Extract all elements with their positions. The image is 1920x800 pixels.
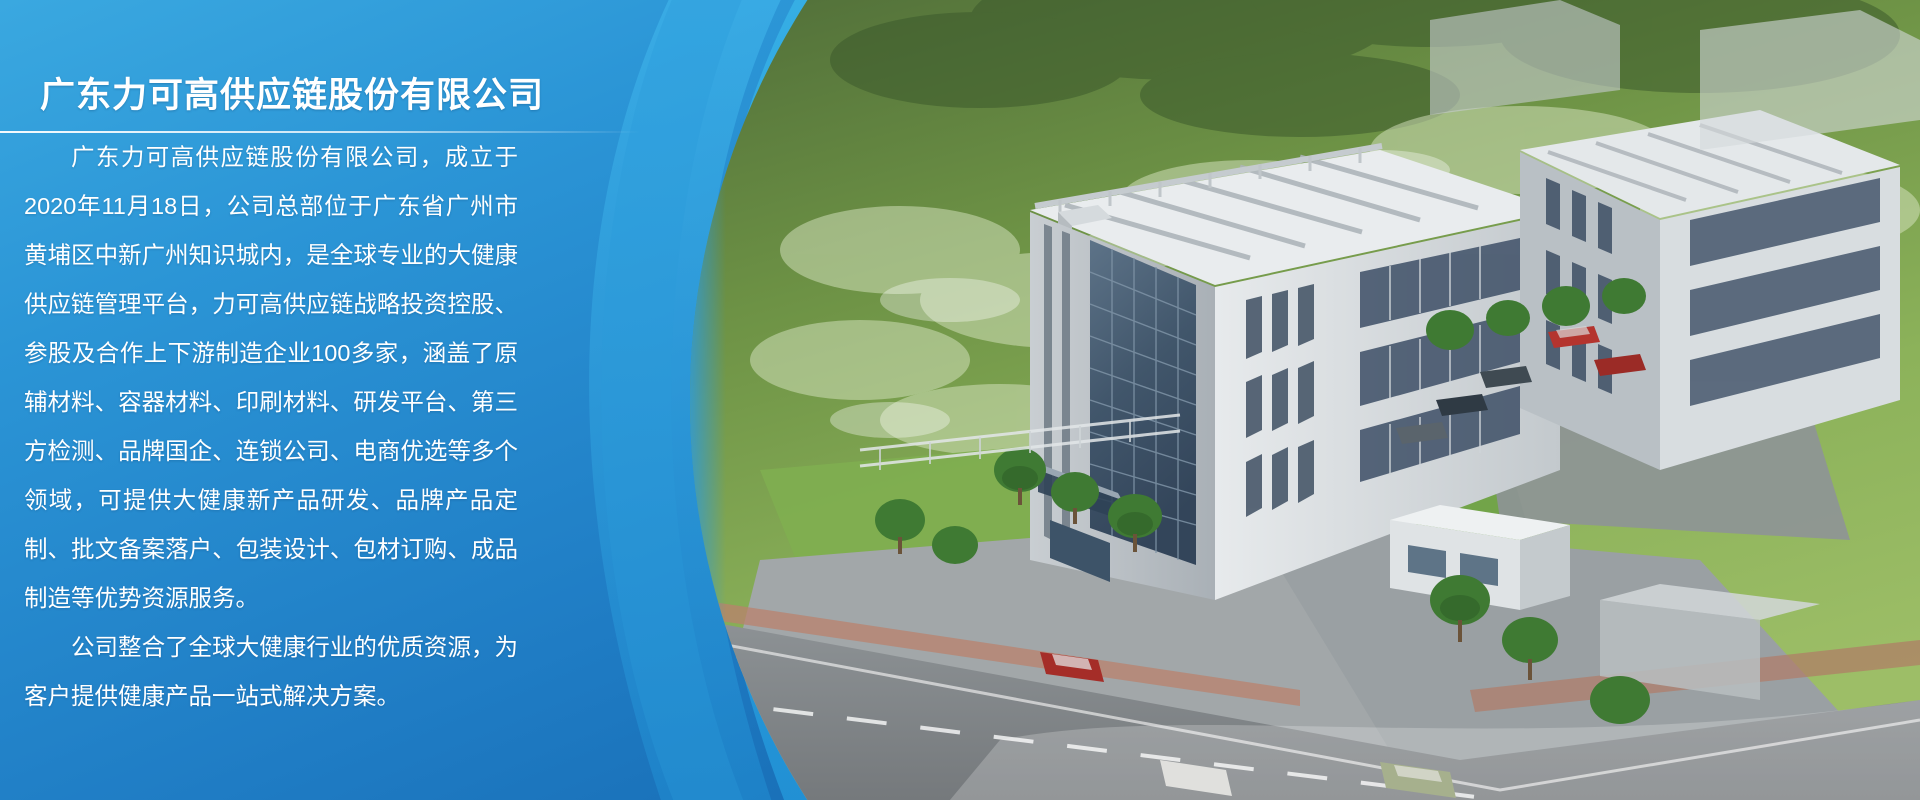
factory-campus-aerial-photo	[690, 0, 1920, 800]
paragraph-1: 广东力可高供应链股份有限公司，成立于2020年11月18日，公司总部位于广东省广…	[24, 133, 518, 623]
page-title: 广东力可高供应链股份有限公司	[40, 75, 544, 117]
paragraph-2: 公司整合了全球大健康行业的优质资源，为客户提供健康产品一站式解决方案。	[24, 623, 518, 721]
company-description: 广东力可高供应链股份有限公司，成立于2020年11月18日，公司总部位于广东省广…	[24, 133, 518, 721]
company-profile-banner: 广东力可高供应链股份有限公司 广东力可高供应链股份有限公司，成立于2020年11…	[0, 0, 1920, 800]
text-content-column: 广东力可高供应链股份有限公司 广东力可高供应链股份有限公司，成立于2020年11…	[0, 0, 640, 800]
